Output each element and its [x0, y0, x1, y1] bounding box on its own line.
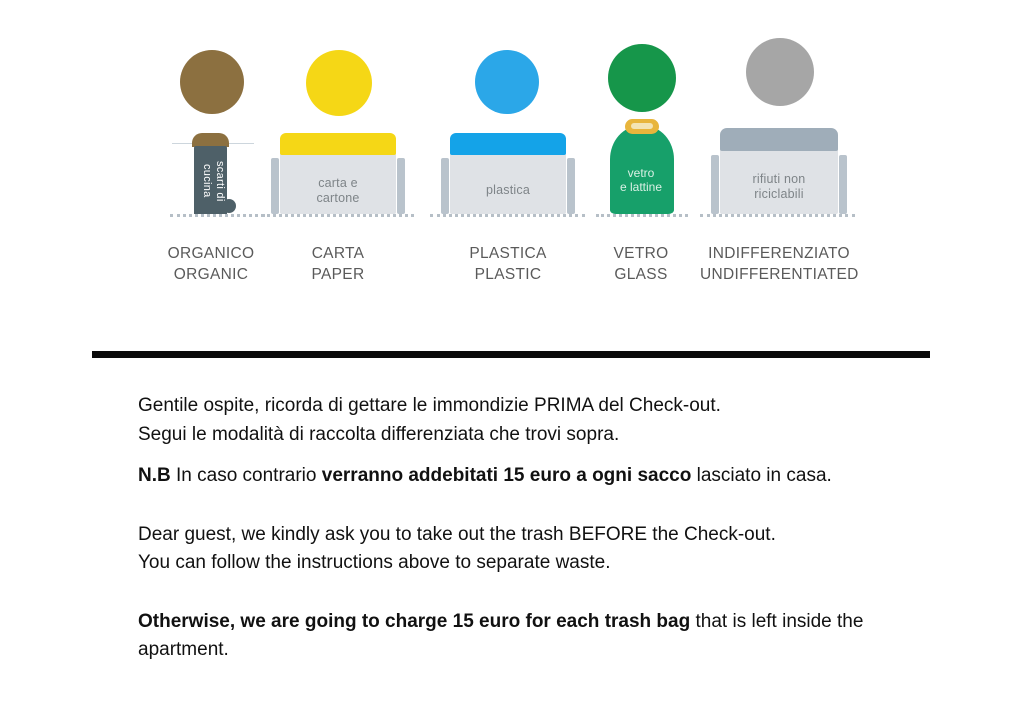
sack-tie-highlight [631, 123, 653, 129]
bin-graphic-glass: vetro e lattine [586, 0, 696, 215]
bin-caption-undifferentiated: INDIFFERENZIATO UNDIFFERENTIATED [700, 243, 858, 285]
bin-caption-glass: VETRO GLASS [586, 243, 696, 285]
waste-sorting-illustration: scarti di cucina ORGANICO ORGANIC carta … [0, 0, 1024, 320]
english-notice-bold: Otherwise, we are going to charge 15 eur… [138, 611, 690, 632]
bin-inner-label-paper: carta e cartone [262, 176, 414, 206]
instructions-block: Gentile ospite, ricorda di gettare le im… [138, 392, 898, 665]
bin-graphic-undifferentiated: rifiuti non riciclabili [700, 0, 858, 215]
italian-notice-bold: verranno addebitati 15 euro a ogni sacco [322, 465, 692, 486]
bin-graphic-plastic: plastica [432, 0, 584, 215]
italian-line-1: Gentile ospite, ricorda di gettare le im… [138, 392, 898, 421]
section-divider [92, 351, 930, 358]
english-notice: Otherwise, we are going to charge 15 eur… [138, 608, 898, 665]
bin-caption-paper: CARTA PAPER [262, 243, 414, 285]
paragraph-spacer-large [138, 491, 898, 521]
bin-inner-label-organic: scarti di cucina [196, 152, 226, 210]
italian-line-2: Segui le modalità di raccolta differenzi… [138, 421, 898, 450]
bin-inner-label-glass: vetro e lattine [586, 166, 696, 194]
bin-caption-plastic: PLASTICA PLASTIC [432, 243, 584, 285]
italian-notice-mid: In caso contrario [171, 465, 322, 486]
bin-inner-label-undifferentiated: rifiuti non riciclabili [700, 172, 858, 202]
english-line-2: You can follow the instructions above to… [138, 549, 898, 578]
bin-inner-label-plastic: plastica [432, 183, 584, 198]
italian-notice-prefix: N.B [138, 465, 171, 486]
italian-notice-suffix: lasciato in casa. [691, 465, 831, 486]
bin-graphic-paper: carta e cartone [262, 0, 414, 215]
italian-notice: N.B In caso contrario verranno addebitat… [138, 462, 898, 491]
english-line-1: Dear guest, we kindly ask you to take ou… [138, 521, 898, 550]
bin-graphic-organic: scarti di cucina [150, 0, 272, 215]
bin-lid-plastic [450, 133, 566, 155]
bin-lid-undifferentiated [720, 128, 838, 151]
bin-caption-organic: ORGANICO ORGANIC [150, 243, 272, 285]
paragraph-spacer-large [138, 578, 898, 608]
bin-lid-paper [280, 133, 396, 155]
paragraph-spacer [138, 449, 898, 462]
bin-lid-organic [192, 133, 229, 147]
